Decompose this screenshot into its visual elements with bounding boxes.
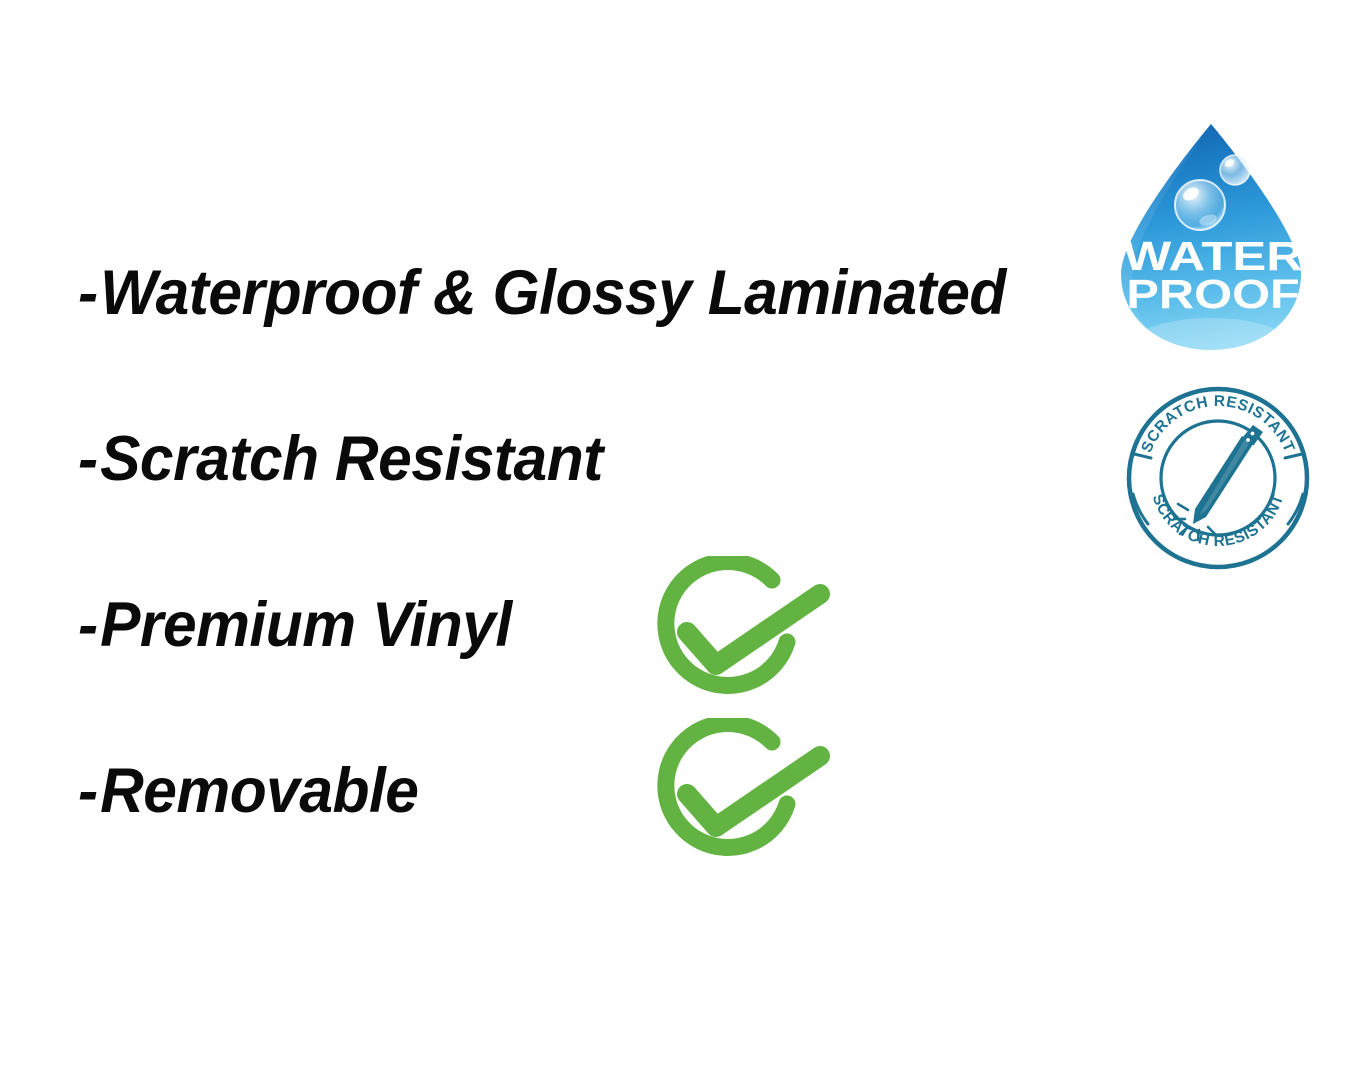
check-mark-1 [640,556,840,716]
feature-list-infographic: -Waterproof & Glossy Laminated -Scratch … [0,0,1359,1080]
scratch-resistant-badge: SCRATCH RESISTANT SCRATCH RESISTANT [1122,382,1314,574]
water-bubble-small [1220,155,1250,185]
scratch-text-top: SCRATCH RESISTANT [1138,393,1298,455]
feature-dash: - [78,424,100,494]
feature-label: Scratch Resistant [100,424,603,494]
feature-label: Removable [100,756,418,826]
feature-item-waterproof-glossy-laminated: -Waterproof & Glossy Laminated [78,262,1006,325]
waterproof-badge: WATER PROOF [1105,112,1317,360]
feature-item-removable: -Removable [78,760,418,823]
waterproof-line2: PROOF [1126,271,1299,317]
feature-label: Premium Vinyl [100,590,512,660]
check-mark-2 [640,718,840,878]
scratch-text-bottom: SCRATCH RESISTANT [1149,492,1288,550]
feature-dash: - [78,590,100,660]
feature-label: Waterproof & Glossy Laminated [100,258,1006,328]
feature-item-premium-vinyl: -Premium Vinyl [78,594,512,657]
water-bubble-large [1175,180,1225,230]
knife-icon [1174,425,1263,540]
feature-item-scratch-resistant: -Scratch Resistant [78,428,603,491]
check-mark-stroke [687,756,820,827]
feature-dash: - [78,756,100,826]
check-mark-stroke [687,594,820,665]
feature-dash: - [78,258,100,328]
